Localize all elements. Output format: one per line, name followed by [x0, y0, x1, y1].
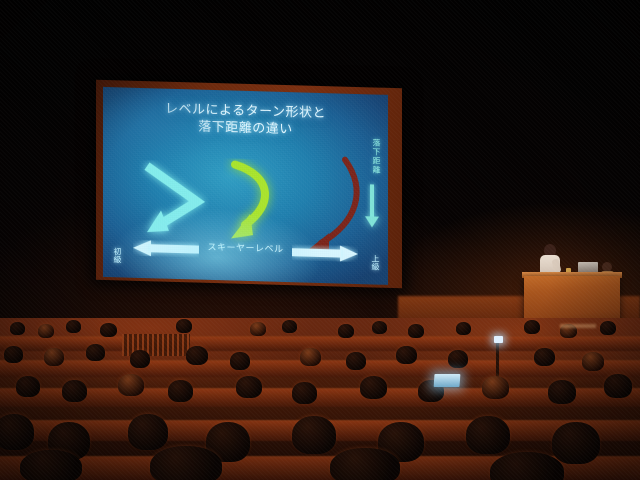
audience-head	[330, 448, 400, 480]
beginner-turn-arrow-icon	[139, 160, 209, 240]
lecture-hall-screenshot: レベルによるターン形状と 落下距離の違い 落下距離	[0, 0, 640, 480]
audience-head	[86, 344, 105, 361]
audience-head	[582, 352, 604, 371]
audience-head	[0, 414, 34, 450]
audience-head	[552, 422, 600, 464]
projection-screen: レベルによるターン形状と 落下距離の違い 落下距離	[96, 80, 402, 289]
audience-head	[20, 450, 82, 480]
audience-head	[130, 350, 150, 368]
audience-head	[282, 320, 297, 333]
audience-head	[408, 324, 424, 338]
audience-head	[230, 352, 250, 370]
audience-head	[396, 346, 417, 364]
audience-head	[118, 374, 144, 396]
audience-head	[372, 321, 387, 334]
camera-lcd-glow	[494, 336, 503, 343]
wall-light-strip	[560, 324, 596, 328]
audience-head	[338, 324, 354, 338]
audience-head	[100, 323, 117, 337]
audience-head	[66, 320, 81, 333]
slide-title-line1: レベルによるターン形状と	[165, 102, 326, 121]
audience-area	[0, 318, 640, 480]
audience-head	[482, 376, 509, 399]
audience-head	[150, 446, 222, 480]
audience-head	[38, 324, 54, 338]
slide-title: レベルによるターン形状と 落下距離の違い	[103, 99, 388, 141]
audience-head	[604, 374, 632, 398]
axis-arrow-right-icon	[292, 244, 358, 262]
audience-head	[466, 416, 510, 454]
audience-head	[456, 322, 471, 335]
vertical-axis-label: 落下距離	[371, 138, 382, 174]
audience-head	[448, 350, 468, 368]
projected-slide: レベルによるターン形状と 落下距離の違い 落下距離	[103, 87, 388, 285]
audience-head	[16, 376, 40, 397]
audience-head	[534, 348, 555, 366]
intermediate-turn-arrow-icon	[223, 158, 285, 250]
audience-head	[600, 321, 616, 335]
slide-title-line2: 落下距離の違い	[103, 116, 388, 141]
audience-head	[128, 414, 168, 450]
audience-head	[524, 320, 540, 334]
audience-head	[62, 380, 87, 402]
audience-head	[346, 352, 366, 370]
seat-row	[0, 388, 640, 407]
audience-head	[300, 348, 321, 366]
audience-head	[250, 322, 266, 336]
axis-arrow-left-icon	[133, 240, 199, 258]
audience-head	[236, 376, 262, 398]
audience-head	[292, 416, 336, 454]
audience-head	[168, 380, 193, 402]
audience-head	[360, 376, 387, 399]
audience-head	[176, 319, 192, 333]
audience-head	[10, 322, 25, 335]
audience-laptop-glow	[434, 374, 461, 387]
wooden-podium	[524, 276, 620, 324]
audience-head	[186, 346, 208, 365]
audience-head	[548, 380, 576, 404]
camera-tripod	[496, 343, 499, 377]
audience-head	[4, 346, 23, 363]
audience-head	[292, 382, 317, 404]
audience-head	[44, 348, 64, 366]
